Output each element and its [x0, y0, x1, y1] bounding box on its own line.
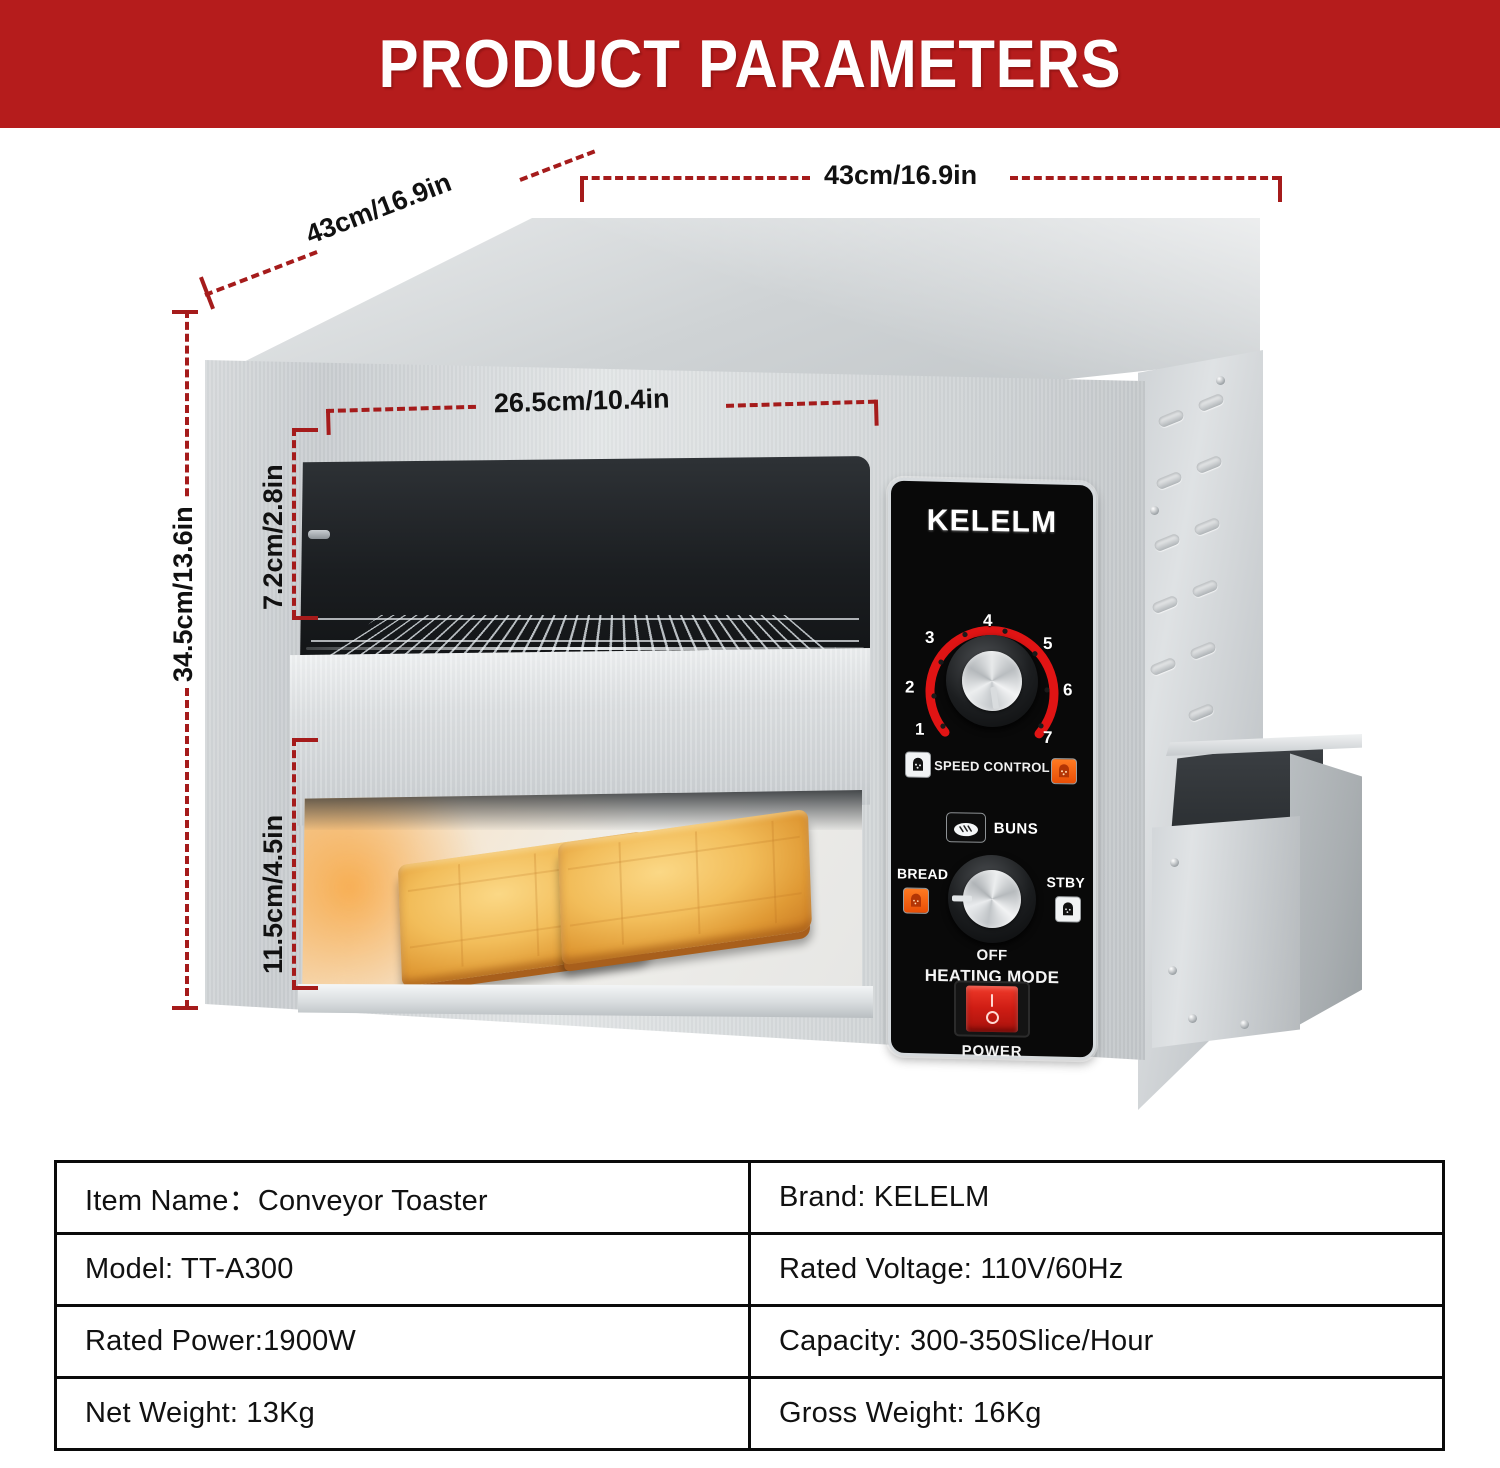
table-row: Model: TT-A300 Rated Voltage: 110V/60Hz — [56, 1234, 1444, 1306]
spec-rated-voltage: Rated Voltage: 110V/60Hz — [750, 1234, 1444, 1306]
off-label: OFF — [891, 945, 1093, 966]
dimension-opening-width-label: 26.5cm/10.4in — [487, 383, 675, 419]
collection-chute-side — [1290, 742, 1362, 1030]
speed-number-5: 5 — [1043, 634, 1052, 654]
speed-knob-cap[interactable] — [962, 650, 1022, 711]
buns-icon — [946, 812, 986, 843]
spec-gross-weight: Gross Weight: 16Kg — [750, 1378, 1444, 1450]
product-illustration: KELELM 1 2 — [0, 128, 1500, 1148]
screw-chute-a — [1170, 858, 1179, 867]
collection-chute-front — [1152, 816, 1300, 1048]
speed-number-4: 4 — [983, 611, 992, 631]
page-title: PRODUCT PARAMETERS — [379, 25, 1122, 103]
speed-control-group: 1 2 3 4 5 6 7 — [891, 599, 1093, 803]
speed-number-7: 7 — [1043, 728, 1052, 748]
spec-model: Model: TT-A300 — [56, 1234, 750, 1306]
dimension-lower-gap-label: 11.5cm/4.5in — [258, 809, 289, 980]
screw-chute-c — [1188, 1014, 1197, 1023]
spec-net-weight: Net Weight: 13Kg — [56, 1378, 750, 1450]
power-switch[interactable] — [954, 980, 1030, 1037]
dimension-upper-gap-label: 7.2cm/2.8in — [258, 458, 289, 616]
chamber-hinge-pin — [308, 530, 330, 539]
screw-chute-d — [1240, 1020, 1249, 1029]
speed-number-1: 1 — [915, 720, 924, 740]
power-switch-face[interactable] — [966, 986, 1018, 1033]
spec-capacity: Capacity: 300-350Slice/Hour — [750, 1306, 1444, 1378]
spec-item-name: Item Name：Conveyor Toaster — [56, 1162, 750, 1234]
product-parameters-page: PRODUCT PARAMETERS — [0, 0, 1500, 1468]
toast-white-icon — [1055, 896, 1081, 922]
conveyor-toaster-body: KELELM 1 2 — [0, 128, 1500, 1148]
power-on-mark-icon — [991, 994, 993, 1007]
bread-mode-label: BREAD — [897, 865, 948, 882]
toast-slice — [558, 809, 812, 965]
power-off-mark-icon — [986, 1011, 999, 1024]
speed-number-3: 3 — [925, 628, 934, 648]
table-row: Rated Power:1900W Capacity: 300-350Slice… — [56, 1306, 1444, 1378]
toast-orange-icon — [903, 887, 929, 913]
heating-mode-group: BREAD STBY OFF HEATING MODE — [891, 853, 1093, 987]
spec-brand: Brand: KELELM — [750, 1162, 1444, 1234]
brand-logo: KELELM — [891, 503, 1093, 541]
screw-mid-right — [1150, 506, 1159, 515]
dimension-total-height-label: 34.5cm/13.6in — [168, 500, 199, 688]
page-header-banner: PRODUCT PARAMETERS — [0, 0, 1500, 128]
specification-table: Item Name：Conveyor Toaster Brand: KELELM… — [54, 1160, 1445, 1451]
screw-chute-b — [1168, 966, 1177, 975]
speed-control-knob[interactable] — [946, 634, 1038, 728]
conveyor-opening — [300, 456, 870, 666]
speed-number-6: 6 — [1063, 680, 1072, 700]
table-row: Item Name：Conveyor Toaster Brand: KELELM — [56, 1162, 1444, 1234]
speed-number-2: 2 — [905, 677, 914, 697]
dimension-top-width-label: 43cm/16.9in — [818, 160, 983, 191]
heating-mode-knob-pointer — [952, 895, 972, 901]
power-label: POWER — [891, 1041, 1093, 1062]
table-row: Net Weight: 13Kg Gross Weight: 16Kg — [56, 1378, 1444, 1450]
standby-mode-label: STBY — [1046, 874, 1085, 891]
spec-rated-power: Rated Power:1900W — [56, 1306, 750, 1378]
output-tray-lip — [298, 984, 873, 1018]
heating-mode-knob[interactable] — [948, 854, 1036, 944]
speed-knob-pointer — [990, 687, 999, 710]
toast-output-chamber — [302, 790, 862, 1005]
buns-label: BUNS — [994, 820, 1039, 838]
screw-top-right — [1216, 376, 1225, 385]
buns-group[interactable]: BUNS — [891, 811, 1093, 845]
control-panel: KELELM 1 2 — [888, 477, 1096, 1060]
